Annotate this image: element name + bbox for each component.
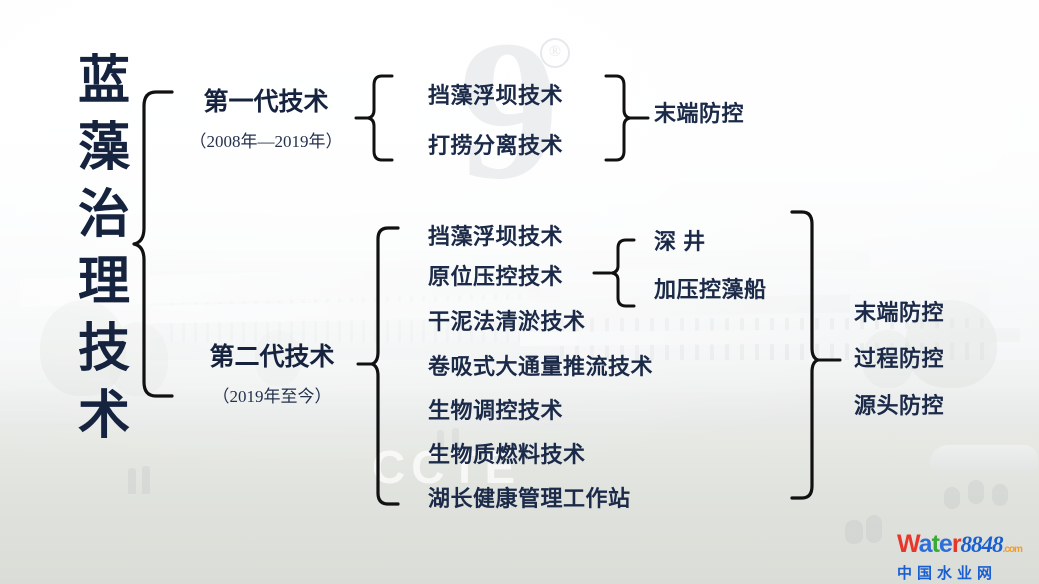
watermark-letter-w: W <box>897 530 919 558</box>
gen1-item-0: 挡藻浮坝技术 <box>428 78 563 110</box>
watermark-domain: .com <box>1003 544 1022 555</box>
generation-2-brace <box>358 224 400 508</box>
watermark-wordmark: Water8848.com <box>897 531 1029 563</box>
generation-2-label: 第二代技术 （2019年至今） <box>186 337 358 407</box>
sub-branch-item-1: 加压控藻船 <box>654 272 767 304</box>
root-brace <box>130 88 174 400</box>
gen1-outcome-0: 末端防控 <box>654 96 744 128</box>
watermark-chinese: 中国水业网 <box>897 564 1029 584</box>
watermark-letter-r: r <box>952 530 961 558</box>
gen2-outcome-2: 源头防控 <box>854 388 944 420</box>
ghost-logo-watermark: 9 <box>424 8 594 213</box>
watermark-number: 8848 <box>961 532 1003 557</box>
generation-2-years: （2019年至今） <box>186 382 358 407</box>
gen1-item-1: 打捞分离技术 <box>428 128 563 160</box>
sub-branch-item-0: 深 井 <box>654 224 706 256</box>
generation-1-label: 第一代技术 （2008年—2019年） <box>180 82 352 152</box>
gen2-outcome-1: 过程防控 <box>854 341 944 373</box>
generation-1-outcome-brace <box>604 72 652 164</box>
watermark-letter-a: a <box>919 530 932 558</box>
generation-1-name: 第一代技术 <box>180 82 352 118</box>
slide-canvas: CCTE 9 ® 蓝藻治理技术 第一代技术 （2008年—2019年） 挡藻浮坝… <box>0 0 1039 584</box>
site-watermark: Water8848.com 中国水业网 <box>897 531 1029 584</box>
registered-mark-icon: ® <box>540 38 570 68</box>
gen2-item-5: 生物质燃料技术 <box>428 437 586 469</box>
watermark-letter-t: t <box>932 530 939 558</box>
outcome-brace <box>790 208 844 502</box>
gen2-item-0: 挡藻浮坝技术 <box>428 219 563 251</box>
generation-1-brace <box>356 72 396 164</box>
gen2-item-4: 生物调控技术 <box>428 393 563 425</box>
gen2-item-1: 原位压控技术 <box>428 259 563 291</box>
gen2-item-2: 干泥法清淤技术 <box>428 304 586 336</box>
generation-1-years: （2008年—2019年） <box>180 127 352 152</box>
sub-branch-brace <box>594 236 640 310</box>
gen2-outcome-0: 末端防控 <box>854 295 944 327</box>
watermark-letter-e: e <box>939 530 952 558</box>
generation-2-name: 第二代技术 <box>186 337 358 373</box>
gen2-item-3: 卷吸式大通量推流技术 <box>428 349 653 381</box>
gen2-item-6: 湖长健康管理工作站 <box>428 481 631 513</box>
